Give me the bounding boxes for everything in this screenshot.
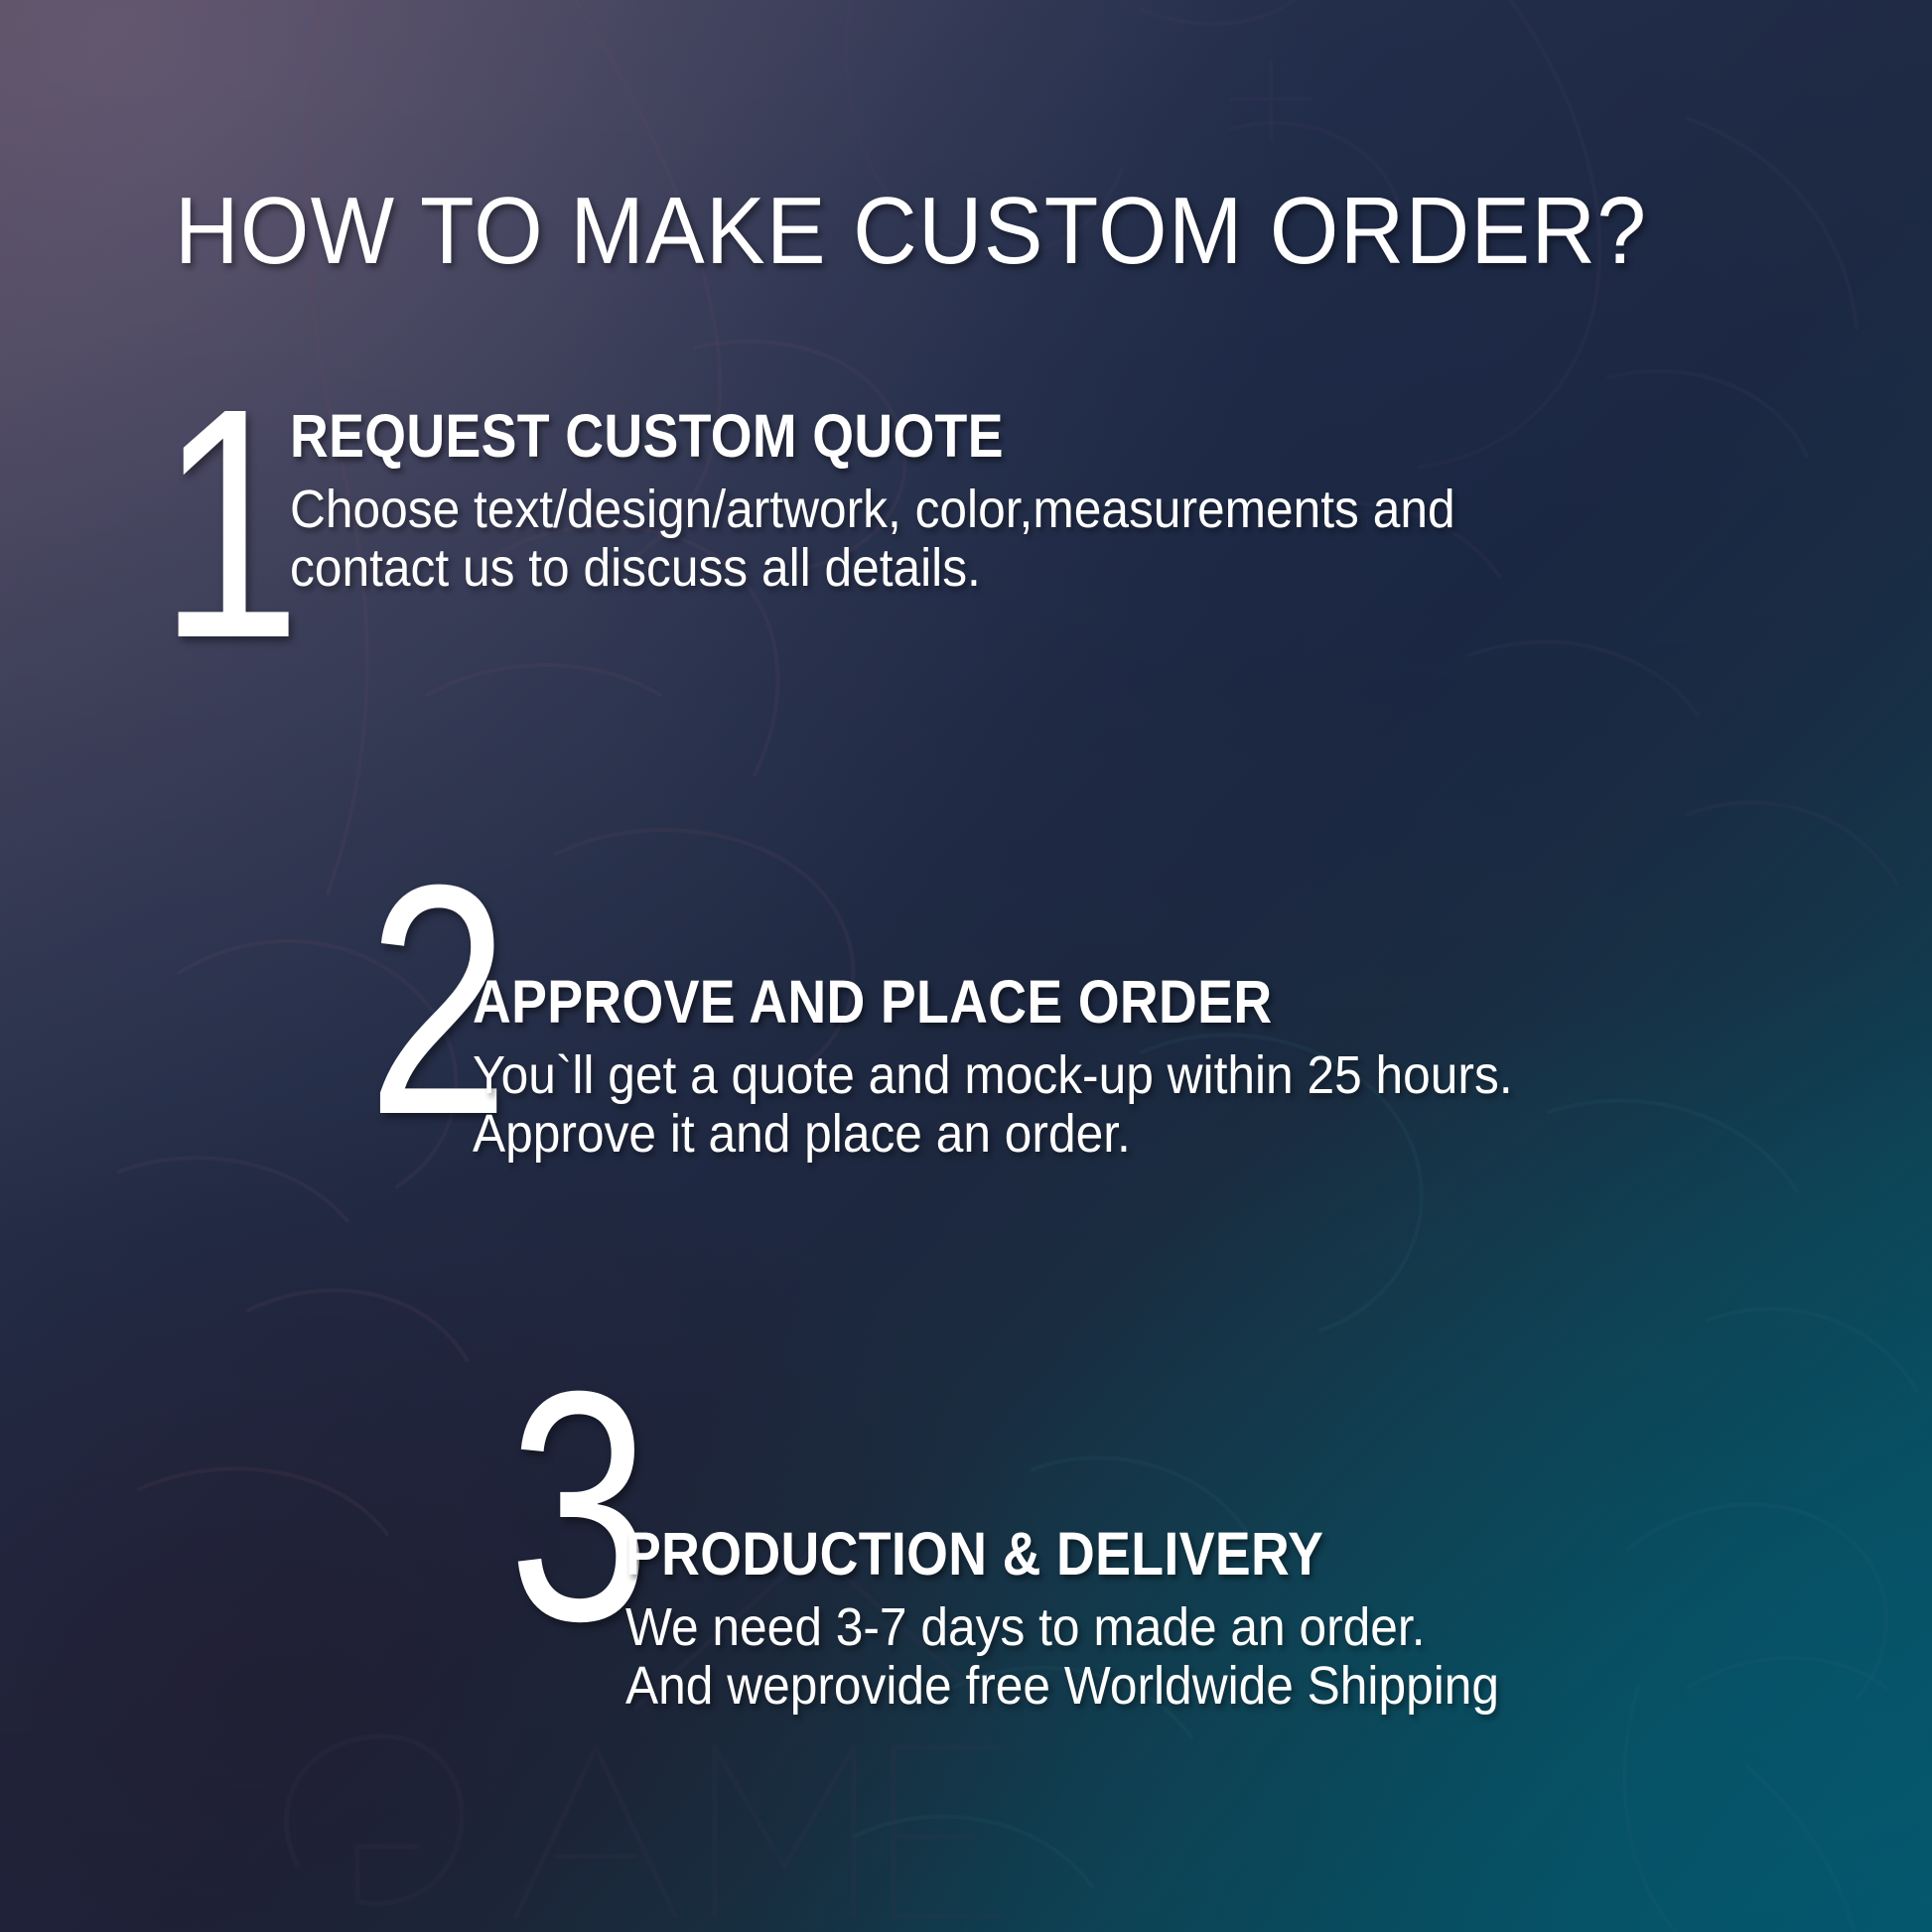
step-item-1: 1 REQUEST CUSTOM QUOTE Choose text/desig… [159, 395, 1556, 650]
step-body-2: APPROVE AND PLACE ORDER You`ll get a quo… [473, 872, 1603, 1165]
infographic-poster: HOW TO MAKE CUSTOM ORDER? 1 REQUEST CUST… [0, 0, 1932, 1932]
step-description-line: Approve it and place an order. [473, 1105, 1513, 1164]
step-heading-2: APPROVE AND PLACE ORDER [473, 967, 1467, 1036]
step-number-3: 3 [508, 1378, 650, 1633]
step-heading-3: PRODUCTION & DELIVERY [625, 1519, 1461, 1588]
step-number-1: 1 [159, 395, 301, 650]
step-description-line: We need 3-7 days to made an order. [625, 1598, 1499, 1657]
step-heading-1: REQUEST CUSTOM QUOTE [290, 401, 1405, 471]
step-description-line: contact us to discuss all details. [290, 539, 1455, 598]
step-item-3: 3 PRODUCTION & DELIVERY We need 3-7 days… [508, 1378, 1575, 1717]
step-body-1: REQUEST CUSTOM QUOTE Choose text/design/… [290, 395, 1557, 599]
page-title: HOW TO MAKE CUSTOM ORDER? [175, 177, 1647, 286]
step-description-line: Choose text/design/artwork, color,measur… [290, 481, 1455, 539]
step-description-2: You`ll get a quote and mock-up within 25… [473, 1046, 1513, 1165]
poster-content: HOW TO MAKE CUSTOM ORDER? 1 REQUEST CUST… [0, 0, 1932, 1932]
step-description-3: We need 3-7 days to made an order. And w… [625, 1598, 1499, 1717]
step-description-line: And weprovide free Worldwide Shipping [625, 1657, 1499, 1716]
step-description-1: Choose text/design/artwork, color,measur… [290, 481, 1455, 599]
step-description-line: You`ll get a quote and mock-up within 25… [473, 1046, 1513, 1105]
step-body-3: PRODUCTION & DELIVERY We need 3-7 days t… [625, 1378, 1576, 1717]
step-item-2: 2 APPROVE AND PLACE ORDER You`ll get a q… [367, 872, 1602, 1165]
